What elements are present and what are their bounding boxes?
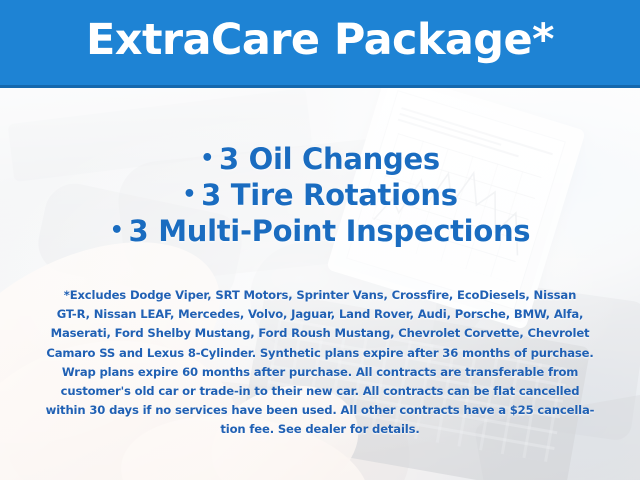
benefit-item-oil-changes: •3 Oil Changes — [0, 141, 640, 177]
bullet-dot-icon: • — [200, 146, 214, 171]
disclaimer-line: tion fee. See dealer for details. — [30, 420, 610, 439]
benefit-item-tire-rotations: •3 Tire Rotations — [0, 177, 640, 213]
legal-disclaimer: *Excludes Dodge Viper, SRT Motors, Sprin… — [30, 286, 610, 440]
disclaimer-line: *Excludes Dodge Viper, SRT Motors, Sprin… — [30, 286, 610, 305]
benefit-item-label: 3 Tire Rotations — [201, 178, 458, 212]
page-title: ExtraCare Package* — [0, 17, 640, 64]
disclaimer-line: customer's old car or trade-in to their … — [30, 382, 610, 401]
disclaimer-line: Maserati, Ford Shelby Mustang, Ford Rous… — [30, 324, 610, 343]
benefit-item-label: 3 Oil Changes — [219, 142, 440, 176]
disclaimer-line: GT-R, Nissan LEAF, Mercedes, Volvo, Jagu… — [30, 305, 610, 324]
bullet-dot-icon: • — [182, 182, 196, 207]
benefit-item-label: 3 Multi-Point Inspections — [129, 214, 531, 248]
header-banner: ExtraCare Package* — [0, 0, 640, 88]
benefit-item-multi-point-inspections: •3 Multi-Point Inspections — [0, 213, 640, 249]
extracare-package-ad: ExtraCare Package* •3 Oil Changes •3 Tir… — [0, 0, 640, 480]
bullet-dot-icon: • — [110, 218, 124, 243]
disclaimer-line: Camaro SS and Lexus 8-Cylinder. Syntheti… — [30, 344, 610, 363]
disclaimer-line: within 30 days if no services have been … — [30, 401, 610, 420]
benefits-list: •3 Oil Changes •3 Tire Rotations •3 Mult… — [0, 141, 640, 249]
disclaimer-line: Wrap plans expire 60 months after purcha… — [30, 363, 610, 382]
